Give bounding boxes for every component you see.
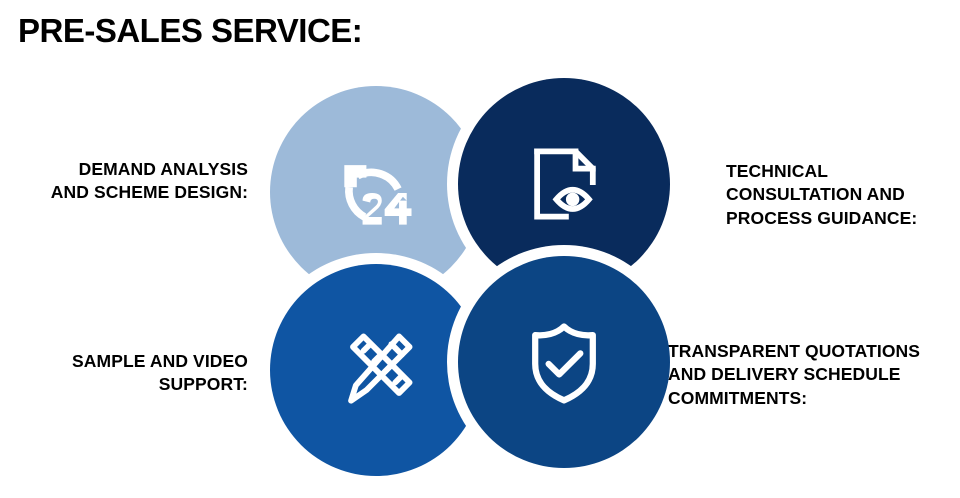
circle-cluster bbox=[262, 78, 682, 478]
label-technical-consultation: TECHNICAL CONSULTATION AND PROCESS GUIDA… bbox=[726, 160, 958, 230]
node-transparent-quotations[interactable] bbox=[458, 256, 670, 468]
label-transparent-quotations: TRANSPARENT QUOTATIONS AND DELIVERY SCHE… bbox=[668, 340, 960, 410]
circle-fill-transparent-quotations bbox=[458, 256, 670, 468]
page-title: PRE-SALES SERVICE: bbox=[18, 12, 362, 50]
label-sample-video-support: SAMPLE AND VIDEO SUPPORT: bbox=[0, 350, 248, 397]
circle-fill-sample-video-support bbox=[270, 264, 482, 476]
node-sample-video-support[interactable] bbox=[270, 264, 482, 476]
label-demand-analysis: DEMAND ANALYSIS AND SCHEME DESIGN: bbox=[0, 158, 248, 205]
infographic-canvas: PRE-SALES SERVICE: bbox=[0, 0, 960, 498]
